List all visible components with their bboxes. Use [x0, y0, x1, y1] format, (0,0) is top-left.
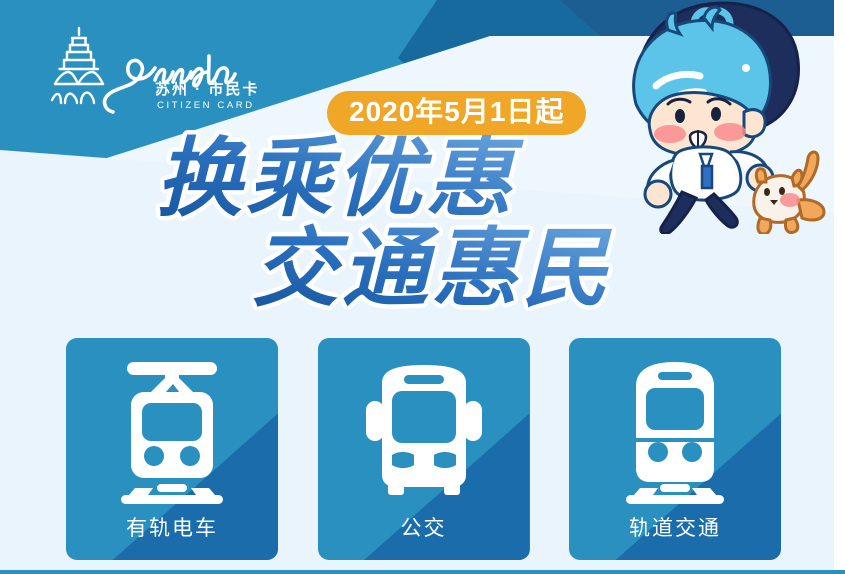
logo-artwork [45, 22, 245, 127]
logo-english-text: CITIZEN CARD [157, 100, 255, 111]
card-tram[interactable]: 有轨电车 [66, 338, 278, 560]
tram-icon [66, 356, 278, 506]
metro-train-icon-artwork [616, 356, 734, 506]
headline-line1: 换乘优惠 [156, 131, 524, 227]
bottom-blue-strip [0, 570, 845, 574]
logo-chinese-text: 苏州 · 市民卡 [155, 78, 259, 99]
metro-train-icon [569, 356, 781, 506]
mascot-running-boy-with-dog [612, 0, 845, 234]
card-bus[interactable]: 公交 [318, 338, 530, 560]
card-metro[interactable]: 轨道交通 [569, 338, 781, 560]
date-badge: 2020年5月1日起 [327, 91, 586, 135]
card-label-bus: 公交 [318, 512, 530, 542]
card-label-metro: 轨道交通 [569, 512, 781, 542]
tram-icon-artwork [113, 356, 231, 506]
card-label-tram: 有轨电车 [66, 512, 278, 542]
pagoda-icon [52, 28, 103, 103]
mascot-hand-left [645, 181, 671, 207]
suzhou-citizen-card-logo: 苏州 · 市民卡 CITIZEN CARD [45, 22, 245, 127]
mascot-ear [744, 110, 765, 137]
transport-cards: 有轨电车 [66, 338, 781, 560]
promo-poster: 苏州 · 市民卡 CITIZEN CARD 2020年5月1日起 换乘优惠 换乘… [0, 0, 845, 574]
bus-icon [318, 356, 530, 506]
mascot-tie [702, 166, 712, 188]
mascot-artwork [612, 0, 845, 234]
mascot-body [645, 147, 773, 234]
bus-icon-artwork [360, 361, 488, 501]
headline-line2: 交通惠民 [252, 221, 612, 317]
